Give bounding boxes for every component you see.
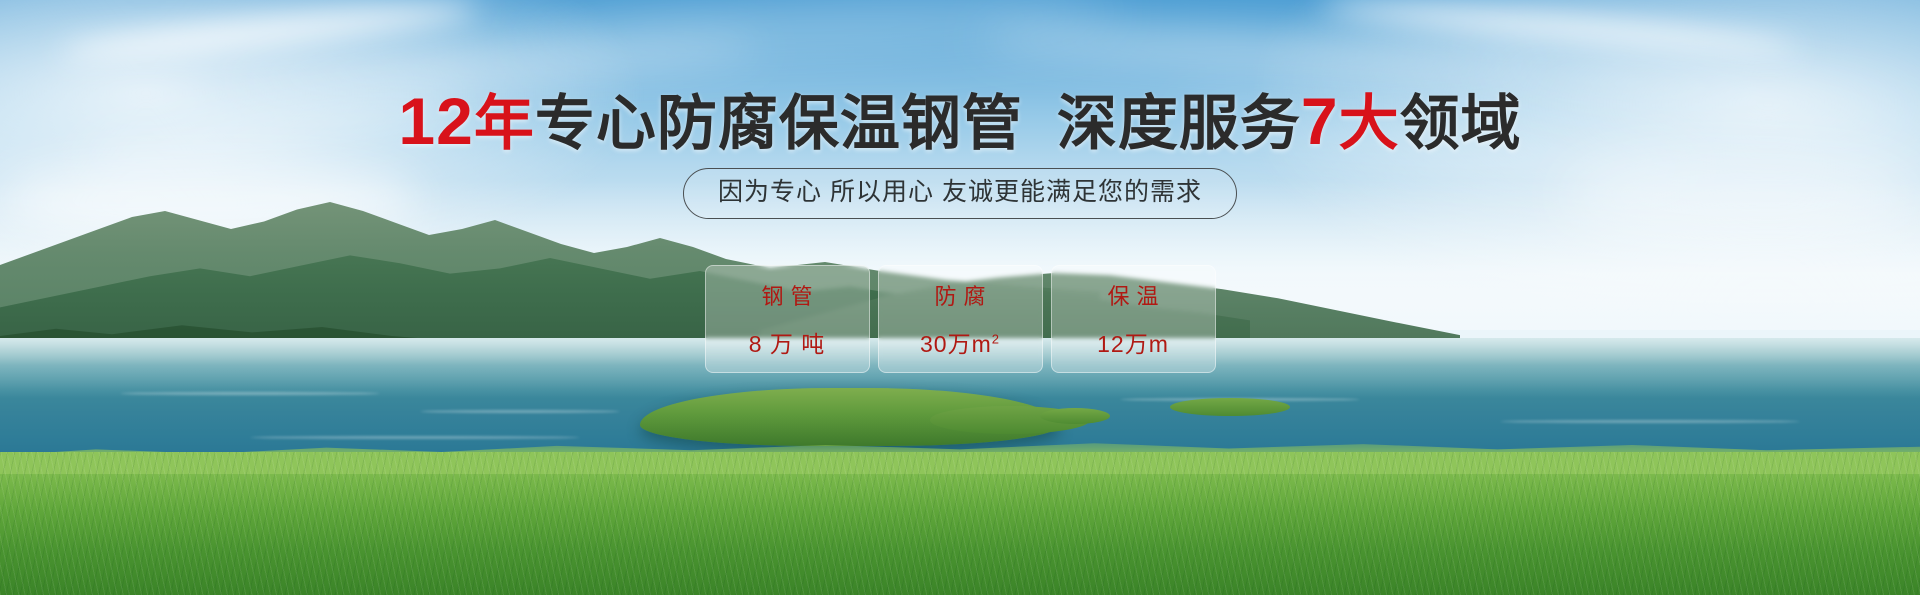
page-title: 12年专心防腐保温钢管深度服务7大领域 [0,88,1920,154]
subtitle-container: 因为专心 所以用心 友诚更能满足您的需求 [0,168,1920,219]
stat-card-value: 30万m2 [920,325,1000,359]
stat-card-value: 12万m [1097,325,1169,359]
stat-card-value-main: 8 万 吨 [749,331,826,357]
headline-fields-number: 7 [1301,84,1339,158]
headline-main-text: 专心防腐保温钢管 [535,90,1023,157]
stats-card-group: 钢管 8 万 吨 防腐 30万m2 保温 12万m [0,265,1920,373]
headline-years-unit: 年 [474,90,535,157]
stat-card-label: 保温 [1100,279,1165,311]
stat-card: 钢管 8 万 吨 [705,265,870,373]
subtitle-pill: 因为专心 所以用心 友诚更能满足您的需求 [683,168,1237,219]
stat-card-label: 钢管 [754,279,819,311]
stat-card-label: 防腐 [927,279,992,311]
headline-years-number: 12 [398,84,473,158]
stat-card-value-superscript: 2 [992,331,1000,346]
stat-card-value: 8 万 吨 [749,325,826,359]
stat-card: 保温 12万m [1051,265,1216,373]
headline-fields-unit: 大 [1339,90,1400,157]
promotional-banner: 12年专心防腐保温钢管深度服务7大领域 因为专心 所以用心 友诚更能满足您的需求… [0,0,1920,595]
banner-content: 12年专心防腐保温钢管深度服务7大领域 因为专心 所以用心 友诚更能满足您的需求… [0,0,1920,595]
headline-fields-text: 领域 [1400,90,1522,157]
stat-card: 防腐 30万m2 [878,265,1043,373]
headline-service-text: 深度服务 [1057,90,1301,157]
stat-card-value-main: 30万m [920,331,992,357]
stat-card-value-main: 12万m [1097,331,1169,357]
